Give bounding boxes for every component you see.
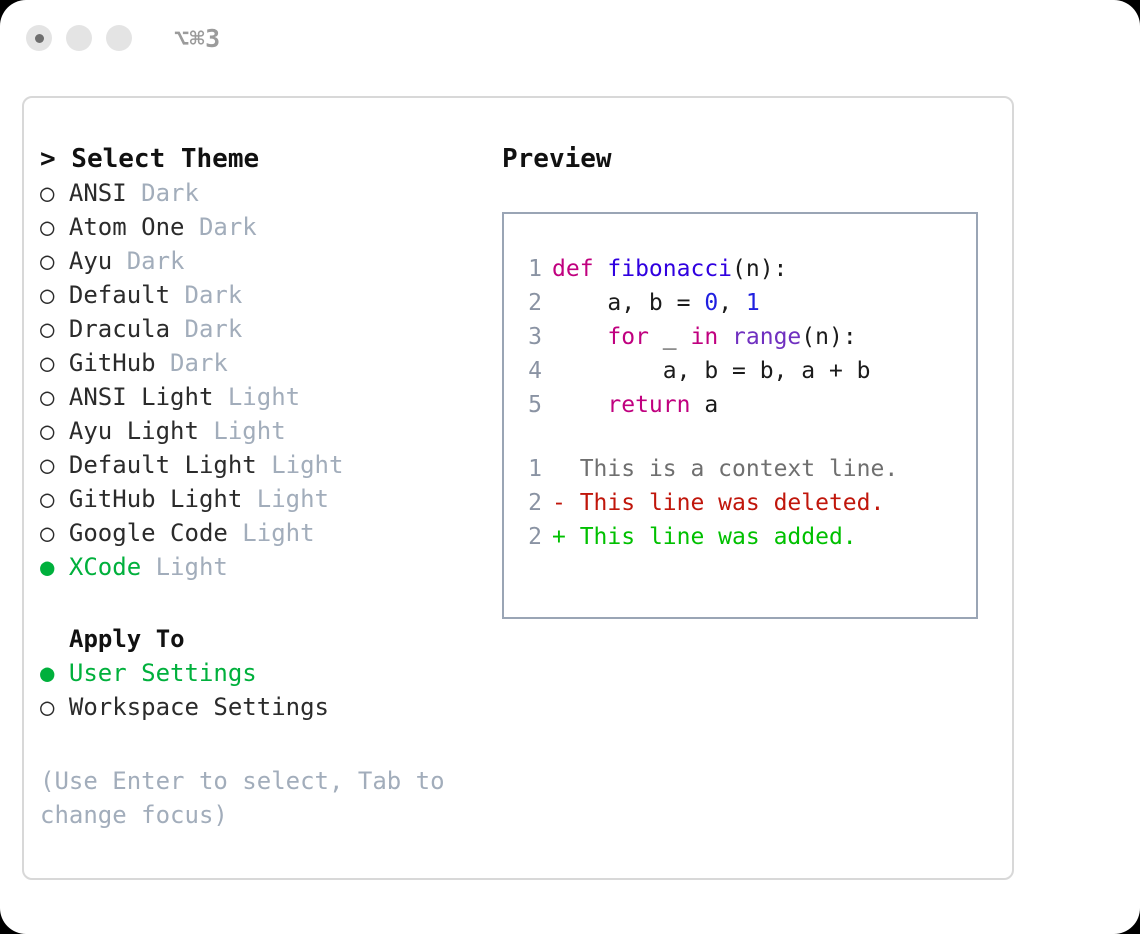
select-theme-heading: > Select Theme xyxy=(40,142,490,176)
theme-name: GitHub xyxy=(54,349,155,377)
code-token-pln: (n): xyxy=(732,256,787,282)
preview-pane: Preview 1def fibonacci(n):2 a, b = 0, 13… xyxy=(502,142,992,619)
code-token-num: 0 xyxy=(704,290,718,316)
preview-spacer xyxy=(518,422,976,452)
code-token-pln: a, b = b, a + b xyxy=(552,358,871,384)
window-dot-maximize[interactable] xyxy=(106,25,132,51)
radio-empty-icon: ○ xyxy=(40,247,54,275)
theme-list: ○ ANSI Dark○ Atom One Dark○ Ayu Dark○ De… xyxy=(40,176,490,584)
radio-empty-icon: ○ xyxy=(40,693,54,721)
code-token-pln xyxy=(552,324,607,350)
diff-line-del: 2- This line was deleted. xyxy=(518,486,976,520)
active-dot-indicator xyxy=(35,34,44,43)
theme-option-default[interactable]: ○ Default Dark xyxy=(40,278,490,312)
code-token-pln: _ xyxy=(649,324,691,350)
theme-option-xcode[interactable]: ● XCode Light xyxy=(40,550,490,584)
line-number: 1 xyxy=(518,252,542,286)
diff-line-ctx: 1 This is a context line. xyxy=(518,452,976,486)
code-line: 4 a, b = b, a + b xyxy=(518,354,976,388)
radio-empty-icon: ○ xyxy=(40,519,54,547)
code-line: 3 for _ in range(n): xyxy=(518,320,976,354)
theme-option-ansi[interactable]: ○ ANSI Dark xyxy=(40,176,490,210)
code-line: 2 a, b = 0, 1 xyxy=(518,286,976,320)
code-token-pln xyxy=(718,324,732,350)
code-token-kw: def xyxy=(552,256,607,282)
theme-variant-badge: Light xyxy=(242,485,329,513)
diff-sample: 1 This is a context line.2- This line wa… xyxy=(518,452,976,554)
code-token-kw: for xyxy=(607,324,649,350)
theme-name: Ayu xyxy=(54,247,112,275)
line-number: 2 xyxy=(518,520,542,554)
code-sample: 1def fibonacci(n):2 a, b = 0, 13 for _ i… xyxy=(518,252,976,422)
theme-option-github-light[interactable]: ○ GitHub Light Light xyxy=(40,482,490,516)
diff-sign xyxy=(552,456,566,482)
theme-name: Atom One xyxy=(54,213,184,241)
theme-variant-badge: Dark xyxy=(112,247,184,275)
theme-name: Google Code xyxy=(54,519,227,547)
theme-option-google-code[interactable]: ○ Google Code Light xyxy=(40,516,490,550)
theme-name: ANSI xyxy=(54,179,126,207)
line-number: 2 xyxy=(518,286,542,320)
theme-variant-badge: Light xyxy=(141,553,228,581)
theme-name: Default Light xyxy=(54,451,256,479)
preview-box: 1def fibonacci(n):2 a, b = 0, 13 for _ i… xyxy=(502,212,978,619)
apply-to-label: Workspace Settings xyxy=(54,693,329,721)
theme-variant-badge: Dark xyxy=(127,179,199,207)
radio-empty-icon: ○ xyxy=(40,451,54,479)
apply-to-option-user-settings[interactable]: ● User Settings xyxy=(40,656,490,690)
theme-variant-badge: Dark xyxy=(170,281,242,309)
radio-selected-icon: ● xyxy=(40,659,54,687)
code-token-pln xyxy=(552,392,607,418)
apply-to-options: ● User Settings○ Workspace Settings xyxy=(40,656,490,724)
apply-to-section: Apply To ● User Settings○ Workspace Sett… xyxy=(40,622,490,724)
line-number: 4 xyxy=(518,354,542,388)
apply-to-heading: Apply To xyxy=(40,622,490,656)
theme-variant-badge: Light xyxy=(228,519,315,547)
theme-option-dracula[interactable]: ○ Dracula Dark xyxy=(40,312,490,346)
code-token-pln: a, b = xyxy=(552,290,704,316)
keyboard-shortcut-label: ⌥⌘3 xyxy=(174,26,221,51)
code-token-num: 1 xyxy=(746,290,760,316)
theme-list-pane: > Select Theme ○ ANSI Dark○ Atom One Dar… xyxy=(40,142,490,832)
code-token-pln: a xyxy=(690,392,718,418)
theme-name: Default xyxy=(54,281,170,309)
line-number: 5 xyxy=(518,388,542,422)
code-line: 1def fibonacci(n): xyxy=(518,252,976,286)
theme-name: XCode xyxy=(54,553,141,581)
code-token-kw: in xyxy=(690,324,718,350)
theme-name: Dracula xyxy=(54,315,170,343)
radio-empty-icon: ○ xyxy=(40,213,54,241)
code-token-pln: (n): xyxy=(801,324,856,350)
theme-option-ayu[interactable]: ○ Ayu Dark xyxy=(40,244,490,278)
theme-option-github[interactable]: ○ GitHub Dark xyxy=(40,346,490,380)
radio-empty-icon: ○ xyxy=(40,485,54,513)
radio-empty-icon: ○ xyxy=(40,349,54,377)
theme-name: GitHub Light xyxy=(54,485,242,513)
radio-empty-icon: ○ xyxy=(40,383,54,411)
radio-selected-icon: ● xyxy=(40,553,54,581)
diff-line-add: 2+ This line was added. xyxy=(518,520,976,554)
theme-name: ANSI Light xyxy=(54,383,213,411)
diff-text: This line was deleted. xyxy=(566,490,885,516)
code-token-kw: return xyxy=(607,392,690,418)
theme-name: Ayu Light xyxy=(54,417,199,445)
radio-empty-icon: ○ xyxy=(40,281,54,309)
diff-sign: + xyxy=(552,524,566,550)
theme-variant-badge: Dark xyxy=(170,315,242,343)
radio-empty-icon: ○ xyxy=(40,315,54,343)
radio-empty-icon: ○ xyxy=(40,179,54,207)
window-dot-close[interactable] xyxy=(26,25,52,51)
theme-selector-card: > Select Theme ○ ANSI Dark○ Atom One Dar… xyxy=(22,96,1014,880)
apply-to-label: User Settings xyxy=(54,659,256,687)
diff-text: This is a context line. xyxy=(566,456,898,482)
title-bar: ⌥⌘3 xyxy=(0,0,1140,76)
app-window: ⌥⌘3 > Select Theme ○ ANSI Dark○ Atom One… xyxy=(0,0,1140,934)
keyboard-hint-text: (Use Enter to select, Tab to change focu… xyxy=(40,764,460,832)
line-number: 3 xyxy=(518,320,542,354)
theme-option-atom-one[interactable]: ○ Atom One Dark xyxy=(40,210,490,244)
theme-variant-badge: Dark xyxy=(156,349,228,377)
preview-heading: Preview xyxy=(502,142,992,176)
diff-text: This line was added. xyxy=(566,524,857,550)
line-number: 1 xyxy=(518,452,542,486)
code-token-call: range xyxy=(732,324,801,350)
window-dot-minimize[interactable] xyxy=(66,25,92,51)
theme-variant-badge: Light xyxy=(199,417,286,445)
theme-variant-badge: Light xyxy=(213,383,300,411)
theme-variant-badge: Dark xyxy=(185,213,257,241)
theme-option-ansi-light[interactable]: ○ ANSI Light Light xyxy=(40,380,490,414)
theme-variant-badge: Light xyxy=(257,451,344,479)
code-token-pln: , xyxy=(718,290,746,316)
radio-empty-icon: ○ xyxy=(40,417,54,445)
code-token-fn: fibonacci xyxy=(607,256,732,282)
code-line: 5 return a xyxy=(518,388,976,422)
line-number: 2 xyxy=(518,486,542,520)
theme-option-default-light[interactable]: ○ Default Light Light xyxy=(40,448,490,482)
diff-sign: - xyxy=(552,490,566,516)
apply-to-option-workspace-settings[interactable]: ○ Workspace Settings xyxy=(40,690,490,724)
theme-option-ayu-light[interactable]: ○ Ayu Light Light xyxy=(40,414,490,448)
